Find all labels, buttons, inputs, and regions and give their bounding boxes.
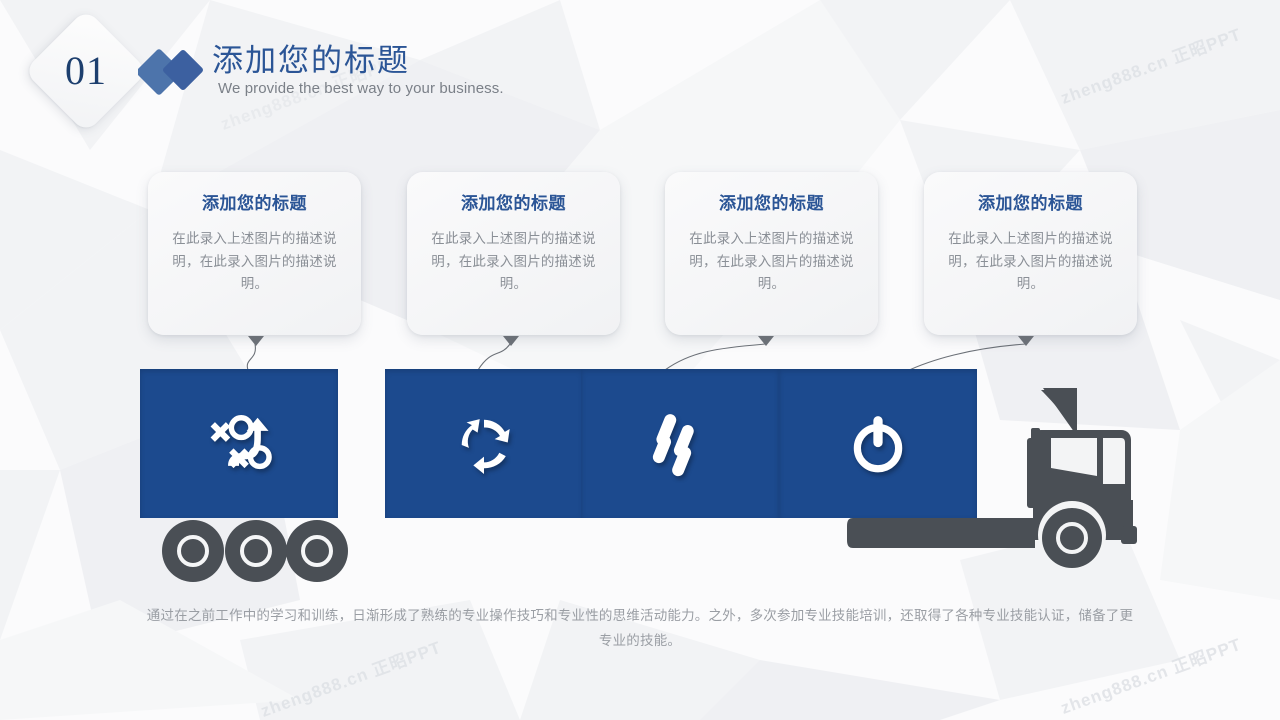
info-card-body: 在此录入上述图片的描述说明，在此录入图片的描述说明。 [679, 228, 864, 295]
icon-box-2[interactable] [385, 369, 583, 518]
info-card-title: 添加您的标题 [162, 194, 347, 214]
info-card-body: 在此录入上述图片的描述说明，在此录入图片的描述说明。 [421, 228, 606, 295]
chain-link-icon [650, 409, 710, 479]
badge-number-text: 01 [42, 27, 130, 115]
page-subtitle: We provide the best way to your business… [218, 80, 504, 97]
info-card-body: 在此录入上述图片的描述说明，在此录入图片的描述说明。 [938, 228, 1123, 295]
info-card-title: 添加您的标题 [679, 194, 864, 214]
info-card-1[interactable]: 添加您的标题 在此录入上述图片的描述说明，在此录入图片的描述说明。 [148, 172, 361, 335]
power-button-icon [845, 411, 911, 477]
strategy-playbook-icon [204, 409, 274, 479]
info-card-title: 添加您的标题 [421, 194, 606, 214]
slide-canvas: zheng888.cn 正昭PPT zheng888.cn 正昭PPT zhen… [0, 0, 1280, 720]
double-diamond-icon [138, 47, 210, 112]
info-card-title: 添加您的标题 [938, 194, 1123, 214]
info-card-4[interactable]: 添加您的标题 在此录入上述图片的描述说明，在此录入图片的描述说明。 [924, 172, 1137, 335]
section-number-badge: 01 [42, 27, 130, 115]
truck-rear-wheels [160, 518, 352, 584]
watermark-top-right: zheng888.cn 正昭PPT [1056, 20, 1244, 109]
recycle-arrows-icon [453, 413, 515, 475]
info-card-body: 在此录入上述图片的描述说明，在此录入图片的描述说明。 [162, 228, 347, 295]
icon-box-4[interactable] [779, 369, 977, 518]
info-card-3[interactable]: 添加您的标题 在此录入上述图片的描述说明，在此录入图片的描述说明。 [665, 172, 878, 335]
icon-box-1[interactable] [140, 369, 338, 518]
footer-paragraph: 通过在之前工作中的学习和训练，日渐形成了熟练的专业操作技巧和专业性的思维活动能力… [145, 604, 1135, 654]
icon-box-3[interactable] [581, 369, 779, 518]
page-title-block: 添加您的标题 We provide the best way to your b… [212, 44, 504, 97]
info-card-2[interactable]: 添加您的标题 在此录入上述图片的描述说明，在此录入图片的描述说明。 [407, 172, 620, 335]
page-title: 添加您的标题 [212, 44, 504, 78]
